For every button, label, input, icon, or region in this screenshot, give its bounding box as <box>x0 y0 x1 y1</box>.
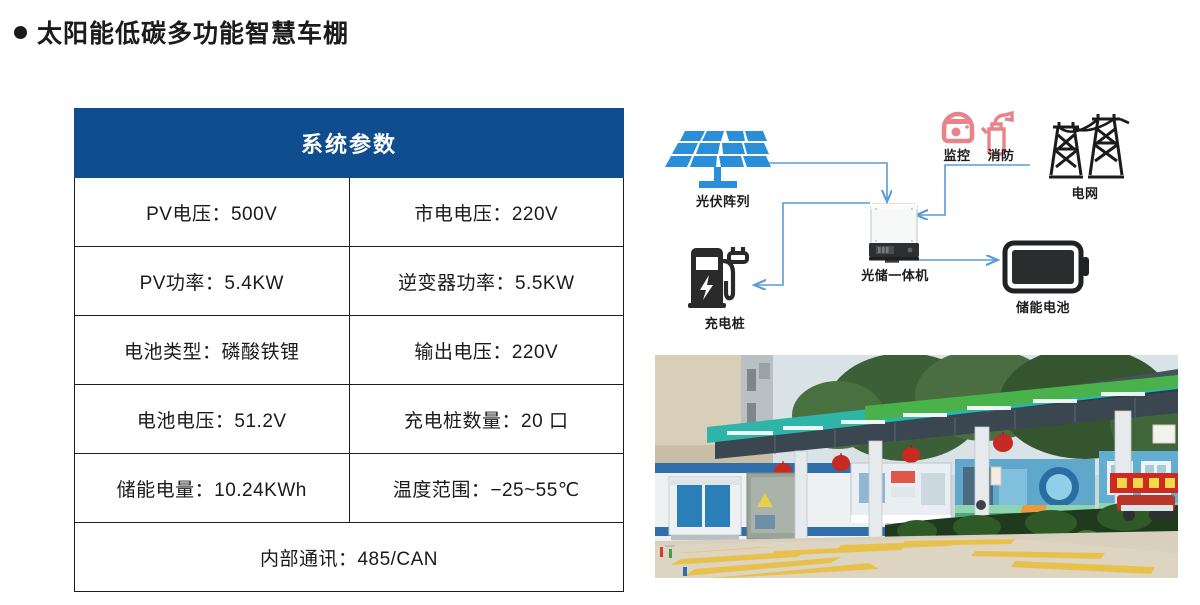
cell-battery-type: 电池类型：磷酸铁锂 <box>75 316 350 385</box>
label-pv-array: 光伏阵列 <box>683 191 763 210</box>
cell-output-voltage: 输出电压：220V <box>349 316 624 385</box>
cell-internal-comm: 内部通讯：485/CAN <box>75 523 624 592</box>
cell-battery-voltage: 电池电压：51.2V <box>75 385 350 454</box>
label-grid: 电网 <box>1035 183 1135 202</box>
table-row: 电池类型：磷酸铁锂 输出电压：220V <box>75 316 624 385</box>
table-row: 内部通讯：485/CAN <box>75 523 624 592</box>
power-grid-tower-icon <box>1049 114 1129 177</box>
label-monitor: 监控 <box>936 145 978 164</box>
system-parameters-table: 系统参数 PV电压：500V 市电电压：220V PV功率：5.4KW 逆变器功… <box>74 108 624 592</box>
table-row: 电池电压：51.2V 充电桩数量：20 口 <box>75 385 624 454</box>
cell-pv-voltage: PV电压：500V <box>75 178 350 247</box>
cell-mains-voltage: 市电电压：220V <box>349 178 624 247</box>
security-camera-icon <box>944 114 972 141</box>
page-title: 太阳能低碳多功能智慧车棚 <box>37 14 349 50</box>
cell-pv-power: PV功率：5.4KW <box>75 247 350 316</box>
table-row: 储能电量：10.24KWh 温度范围：−25~55℃ <box>75 454 624 523</box>
label-charge-pile: 充电桩 <box>675 313 775 332</box>
table-header-row: 系统参数 <box>75 109 624 178</box>
cell-pile-count: 充电桩数量：20 口 <box>349 385 624 454</box>
table-row: PV功率：5.4KW 逆变器功率：5.5KW <box>75 247 624 316</box>
label-battery: 储能电池 <box>993 297 1093 316</box>
carport-photo <box>655 355 1178 578</box>
system-architecture-diagram: 光伏阵列 监控 消防 电网 光储一体机 充电桩 储能电池 <box>655 105 1180 345</box>
hybrid-inverter-icon <box>869 204 919 263</box>
slide-title-row: 太阳能低碳多功能智慧车棚 <box>14 14 349 50</box>
label-fire: 消防 <box>980 145 1022 164</box>
solar-panel-icon <box>665 131 771 188</box>
arrow-pv-to-inverter <box>760 163 887 201</box>
carport-photo-illustration <box>655 355 1178 578</box>
label-inverter: 光储一体机 <box>845 265 945 284</box>
arrow-grid-to-inverter <box>917 165 1030 215</box>
bullet-dot-icon <box>14 26 27 39</box>
table-header-title: 系统参数 <box>75 109 624 178</box>
table-row: PV电压：500V 市电电压：220V <box>75 178 624 247</box>
cell-temp-range: 温度范围：−25~55℃ <box>349 454 624 523</box>
diagram-canvas <box>655 105 1180 345</box>
cell-inverter-power: 逆变器功率：5.5KW <box>349 247 624 316</box>
cell-storage-energy: 储能电量：10.24KWh <box>75 454 350 523</box>
storage-battery-icon <box>1005 243 1089 291</box>
ev-charging-pile-icon <box>688 247 747 308</box>
